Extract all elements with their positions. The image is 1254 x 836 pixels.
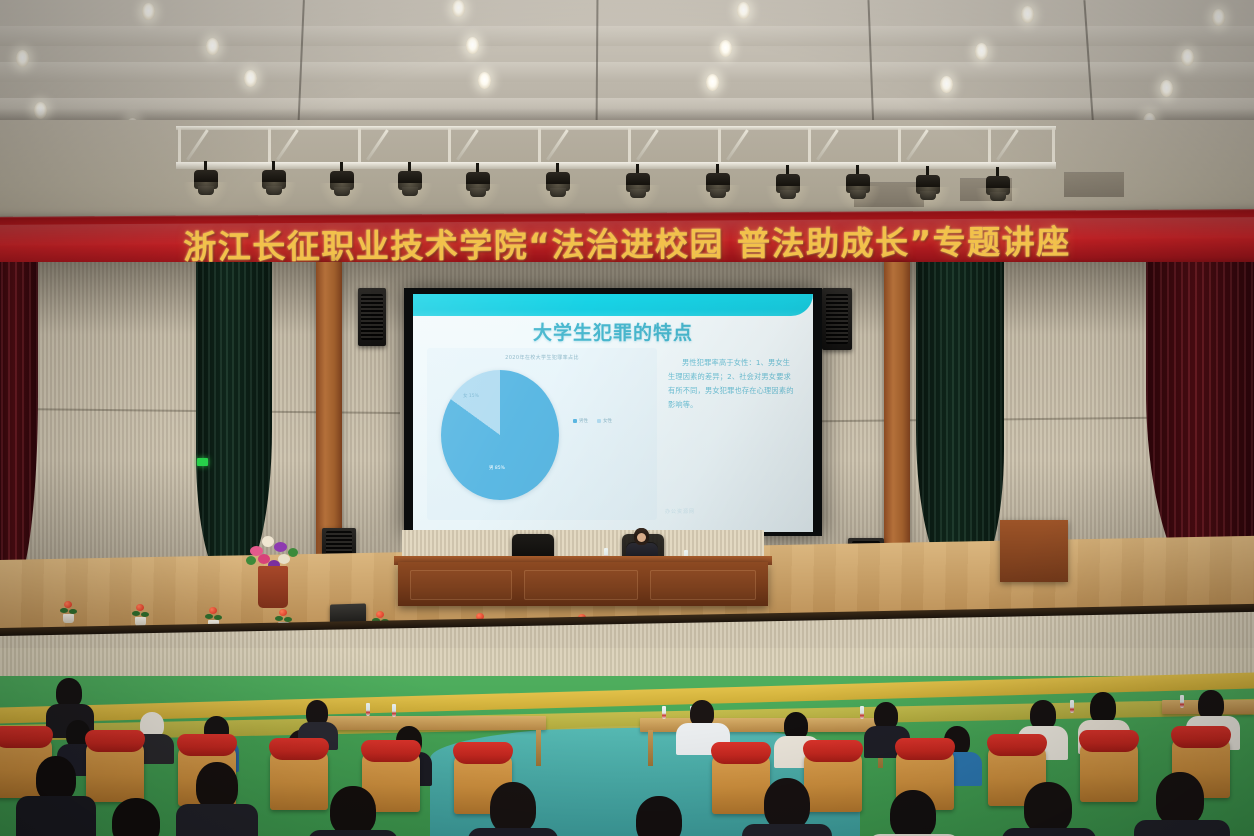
exit-sign-icon — [197, 458, 208, 466]
ceiling-downlight — [478, 72, 491, 89]
curtain-green-right — [916, 262, 1004, 584]
legend-swatch-male — [573, 419, 577, 423]
water-bottle — [392, 704, 396, 717]
ceiling-downlight — [1212, 9, 1225, 26]
ceiling-downlight — [975, 43, 988, 60]
legend-item-female: 女性 — [597, 418, 612, 424]
water-bottle — [1070, 700, 1074, 713]
wall-speaker-left — [358, 288, 386, 346]
stage-spotlight — [776, 172, 800, 202]
ceiling-downlight — [206, 38, 219, 55]
chart-caption: 2020年在校大学生犯罪率占比 — [427, 354, 657, 361]
audience-seat[interactable] — [86, 730, 144, 802]
water-bottle — [662, 706, 666, 719]
ceiling-downlight — [466, 37, 479, 54]
desk-leg — [648, 730, 653, 766]
stage-spotlight — [846, 172, 870, 202]
wood-column-right — [884, 262, 910, 582]
ceiling-downlight — [1021, 6, 1034, 23]
auditorium-photo: 浙江长征职业技术学院“法治进校园 普法助成长”专题讲座 大学生犯罪的特点 202… — [0, 0, 1254, 836]
podium — [1000, 520, 1068, 582]
audience-seat[interactable] — [804, 740, 862, 812]
wall-speaker-right — [822, 288, 852, 350]
slide-note-text: 男性犯罪率高于女性：1、男女生生理因素的差异；2、社会对男女要求有所不同，男女犯… — [668, 356, 796, 412]
ceiling-downlight — [737, 2, 750, 19]
slide-title: 大学生犯罪的特点 — [413, 318, 813, 345]
pie-label-female: 女 15% — [463, 394, 479, 400]
pie-chart-card: 2020年在校大学生犯罪率占比 男 85% 女 15% 男性 女性 — [427, 348, 657, 520]
projection-screen: 大学生犯罪的特点 2020年在校大学生犯罪率占比 男 85% 女 15% 男性 … — [404, 288, 822, 536]
potted-flower — [132, 603, 150, 618]
pie-legend: 男性 女性 — [573, 418, 612, 424]
water-bottle — [1180, 695, 1184, 708]
legend-label-male: 男性 — [579, 418, 588, 424]
legend-swatch-female — [597, 419, 601, 423]
stage-spotlight — [262, 168, 286, 198]
slide-top-band — [413, 294, 813, 316]
potted-flower — [205, 606, 223, 621]
ceiling-downlight — [452, 0, 465, 17]
stage-spotlight — [194, 168, 218, 198]
pie-chart: 男 85% 女 15% — [441, 370, 561, 502]
legend-label-female: 女性 — [603, 418, 612, 424]
water-bottle — [860, 706, 864, 719]
audience-seat[interactable] — [270, 738, 328, 810]
stage-spotlight — [916, 173, 940, 203]
flower-vase — [258, 566, 288, 608]
stage-spotlight — [546, 170, 570, 200]
potted-flower — [275, 608, 293, 623]
flower-pot — [63, 614, 74, 623]
potted-flower — [60, 600, 78, 615]
legend-item-male: 男性 — [573, 418, 588, 424]
ceiling-downlight — [244, 70, 257, 87]
ceiling-downlight — [706, 74, 719, 91]
ceiling-downlight — [16, 50, 29, 67]
audience-seat[interactable] — [712, 742, 770, 814]
audience-desk — [316, 716, 546, 730]
desk-leg — [536, 730, 541, 766]
audience-seat[interactable] — [1080, 730, 1138, 802]
stage-spotlight — [330, 169, 354, 199]
ceiling — [0, 0, 1254, 132]
ceiling-downlight — [719, 40, 732, 57]
stage-spotlight — [986, 174, 1010, 204]
head-table — [398, 562, 768, 606]
lighting-truss — [176, 126, 1056, 172]
pie-slices — [441, 370, 559, 500]
stage-spotlight — [466, 170, 490, 200]
stage-spotlight — [398, 169, 422, 199]
stage-spotlight — [706, 171, 730, 201]
pie-label-male: 男 85% — [489, 466, 505, 472]
stage-spotlight — [626, 171, 650, 201]
ceiling-downlight — [1160, 80, 1173, 97]
ceiling-downlight — [1181, 49, 1194, 66]
ceiling-downlight — [940, 76, 953, 93]
ceiling-downlight — [142, 3, 155, 20]
water-bottle — [366, 703, 370, 716]
slide-watermark: 办公资源网 — [665, 508, 695, 515]
presentation-slide: 大学生犯罪的特点 2020年在校大学生犯罪率占比 男 85% 女 15% 男性 … — [413, 294, 813, 532]
